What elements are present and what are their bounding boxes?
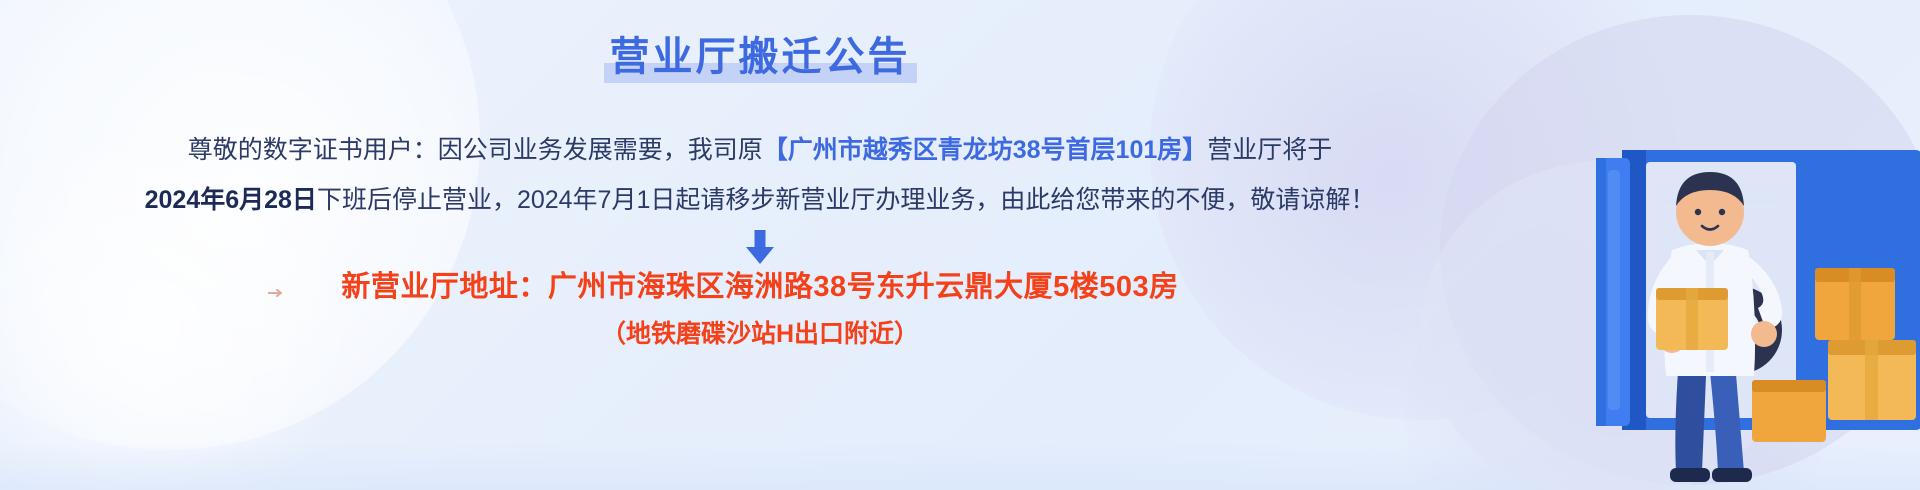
carried-box [1656, 288, 1728, 350]
new-address-note: （地铁磨碟沙站H出口附近） [0, 317, 1520, 351]
mini-arrow-icon [268, 289, 286, 297]
line1-prefix: 尊敬的数字证书用户：因公司业务发展需要，我司原 [188, 136, 763, 164]
announcement-content: 营业厅搬迁公告 尊敬的数字证书用户：因公司业务发展需要，我司原【广州市越秀区青龙… [0, 0, 1520, 490]
truck-wheel [1694, 286, 1782, 374]
page-title: 营业厅搬迁公告 [604, 30, 917, 84]
arrow-container [0, 228, 1520, 268]
announcement-line-2: 2024年6月28日下班后停止营业，2024年7月1日起请移步新营业厅办理业务，… [0, 183, 1520, 217]
mover-person [1648, 172, 1782, 482]
line2-rest: 下班后停止营业，2024年7月1日起请移步新营业厅办理业务，由此给您带来的不便，… [317, 186, 1375, 214]
title-container: 营业厅搬迁公告 [0, 30, 1520, 84]
line1-suffix: 营业厅将于 [1207, 136, 1332, 164]
new-address-line: 新营业厅地址：广州市海珠区海洲路38号东升云鼎大厦5楼503房 [0, 270, 1520, 304]
truck-body [1622, 150, 1920, 430]
relocation-announcement-banner: 营业厅搬迁公告 尊敬的数字证书用户：因公司业务发展需要，我司原【广州市越秀区青龙… [0, 0, 1920, 490]
cargo-boxes [1752, 268, 1916, 442]
announcement-line-1: 尊敬的数字证书用户：因公司业务发展需要，我司原【广州市越秀区青龙坊38号首层10… [0, 133, 1520, 167]
title-text: 营业厅搬迁公告 [610, 35, 911, 79]
old-address-highlight: 【广州市越秀区青龙坊38号首层101房】 [763, 136, 1208, 164]
down-arrow-icon [740, 228, 780, 268]
closing-date: 2024年6月28日 [145, 186, 317, 214]
